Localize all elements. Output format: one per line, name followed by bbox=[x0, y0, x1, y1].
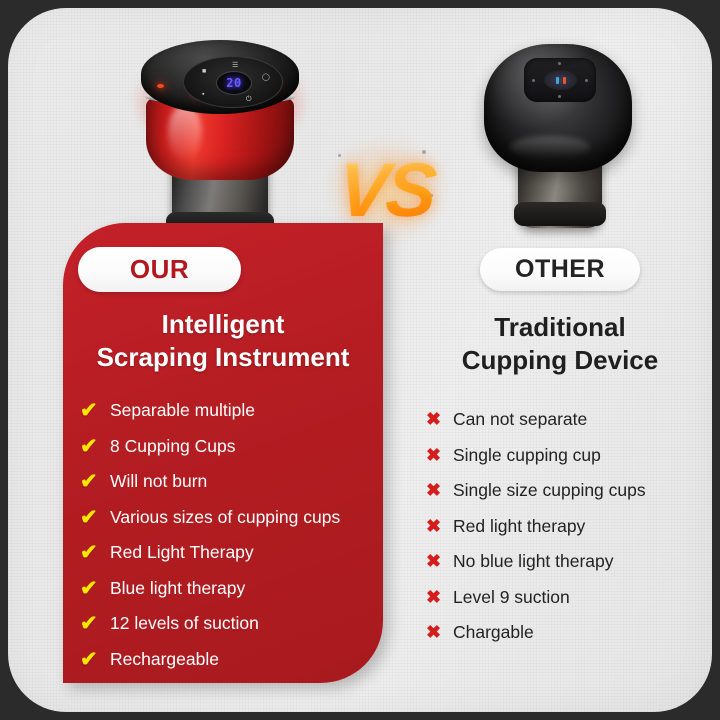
ours-title-line1: Intelligent bbox=[63, 308, 383, 341]
other-title-line1: Traditional bbox=[408, 311, 712, 344]
ours-feature-row: ✔Separable multiple bbox=[80, 400, 380, 436]
ours-title-line2: Scraping Instrument bbox=[63, 341, 383, 374]
button-dot-icon bbox=[532, 79, 535, 82]
check-icon: ✔ bbox=[80, 507, 99, 529]
ours-feature-label: 12 levels of suction bbox=[110, 613, 259, 634]
other-pill-badge: OTHER bbox=[480, 248, 640, 291]
gloss-highlight bbox=[510, 136, 590, 158]
control-panel-other bbox=[524, 58, 596, 102]
button-dot-icon bbox=[585, 79, 588, 82]
ours-feature-row: ✔Blue light therapy bbox=[80, 578, 380, 614]
cross-icon: ✖ bbox=[426, 409, 443, 431]
check-icon: ✔ bbox=[80, 649, 99, 671]
cross-icon: ✖ bbox=[426, 622, 443, 644]
ours-feature-label: 8 Cupping Cups bbox=[110, 436, 236, 457]
ours-feature-list: ✔Separable multiple✔8 Cupping Cups✔Will … bbox=[80, 400, 380, 684]
ours-feature-row: ✔Rechargeable bbox=[80, 649, 380, 685]
other-feature-row: ✖Level 9 suction bbox=[426, 587, 712, 623]
other-feature-row: ✖Single size cupping cups bbox=[426, 480, 712, 516]
other-feature-label: Chargable bbox=[453, 622, 534, 644]
other-pill-label: OTHER bbox=[515, 255, 605, 284]
blue-indicator-icon bbox=[556, 77, 559, 84]
other-feature-list: ✖Can not separate✖Single cupping cup✖Sin… bbox=[426, 409, 712, 658]
cross-icon: ✖ bbox=[426, 445, 443, 467]
heat-mode-icon: ■ bbox=[202, 68, 206, 75]
check-icon: ✔ bbox=[80, 578, 99, 600]
other-title-line2: Cupping Device bbox=[408, 344, 712, 377]
check-icon: ✔ bbox=[80, 400, 99, 422]
cross-icon: ✖ bbox=[426, 480, 443, 502]
power-icon: ⏻ bbox=[246, 96, 252, 103]
ours-feature-row: ✔Will not burn bbox=[80, 471, 380, 507]
other-feature-label: Single size cupping cups bbox=[453, 480, 646, 502]
product-image-other bbox=[478, 36, 638, 236]
infographic-stage: ■ ☰ ◯ ⏻ ▪ 20 VS bbox=[0, 0, 720, 720]
check-icon: ✔ bbox=[80, 542, 99, 564]
red-indicator-icon bbox=[563, 77, 566, 84]
other-feature-label: Single cupping cup bbox=[453, 445, 601, 467]
other-feature-row: ✖Can not separate bbox=[426, 409, 712, 445]
check-icon: ✔ bbox=[80, 613, 99, 635]
ours-feature-label: Rechargeable bbox=[110, 649, 219, 670]
led-display: 20 bbox=[216, 71, 252, 95]
cross-icon: ✖ bbox=[426, 551, 443, 573]
ours-feature-label: Red Light Therapy bbox=[110, 542, 254, 563]
other-feature-row: ✖Chargable bbox=[426, 622, 712, 658]
other-feature-row: ✖Single cupping cup bbox=[426, 445, 712, 481]
other-feature-label: Can not separate bbox=[453, 409, 587, 431]
control-panel-ours: ■ ☰ ◯ ⏻ ▪ 20 bbox=[183, 56, 283, 108]
product-image-ours: ■ ☰ ◯ ⏻ ▪ 20 bbox=[128, 34, 313, 239]
device-top-cap-ours: ■ ☰ ◯ ⏻ ▪ 20 bbox=[141, 40, 299, 114]
led-light-icon bbox=[157, 84, 164, 88]
suction-icon: ▪ bbox=[202, 91, 204, 98]
check-icon: ✔ bbox=[80, 436, 99, 458]
timer-icon: ◯ bbox=[262, 74, 270, 81]
ours-feature-row: ✔Various sizes of cupping cups bbox=[80, 507, 380, 543]
ours-feature-label: Separable multiple bbox=[110, 400, 255, 421]
ours-feature-row: ✔12 levels of suction bbox=[80, 613, 380, 649]
button-dot-icon bbox=[558, 95, 561, 98]
other-feature-label: Level 9 suction bbox=[453, 587, 570, 609]
other-feature-label: No blue light therapy bbox=[453, 551, 614, 573]
other-title: Traditional Cupping Device bbox=[408, 311, 712, 377]
cross-icon: ✖ bbox=[426, 516, 443, 538]
button-dot-icon bbox=[558, 62, 561, 65]
level-bars-icon: ☰ bbox=[232, 62, 238, 69]
ours-feature-label: Various sizes of cupping cups bbox=[110, 507, 340, 528]
display-value: 20 bbox=[226, 76, 241, 90]
ours-feature-label: Will not burn bbox=[110, 471, 207, 492]
other-feature-label: Red light therapy bbox=[453, 516, 585, 538]
other-feature-row: ✖Red light therapy bbox=[426, 516, 712, 552]
ours-feature-label: Blue light therapy bbox=[110, 578, 245, 599]
ours-feature-row: ✔8 Cupping Cups bbox=[80, 436, 380, 472]
ours-pill-badge: OUR bbox=[78, 247, 241, 292]
ours-feature-row: ✔Red Light Therapy bbox=[80, 542, 380, 578]
content-canvas: ■ ☰ ◯ ⏻ ▪ 20 VS bbox=[8, 8, 712, 712]
other-feature-row: ✖No blue light therapy bbox=[426, 551, 712, 587]
gloss-highlight bbox=[168, 104, 202, 162]
device-body-other bbox=[484, 44, 632, 172]
ours-pill-label: OUR bbox=[130, 254, 189, 285]
ours-title: Intelligent Scraping Instrument bbox=[63, 308, 383, 374]
display-oval bbox=[544, 70, 577, 90]
check-icon: ✔ bbox=[80, 471, 99, 493]
cross-icon: ✖ bbox=[426, 587, 443, 609]
